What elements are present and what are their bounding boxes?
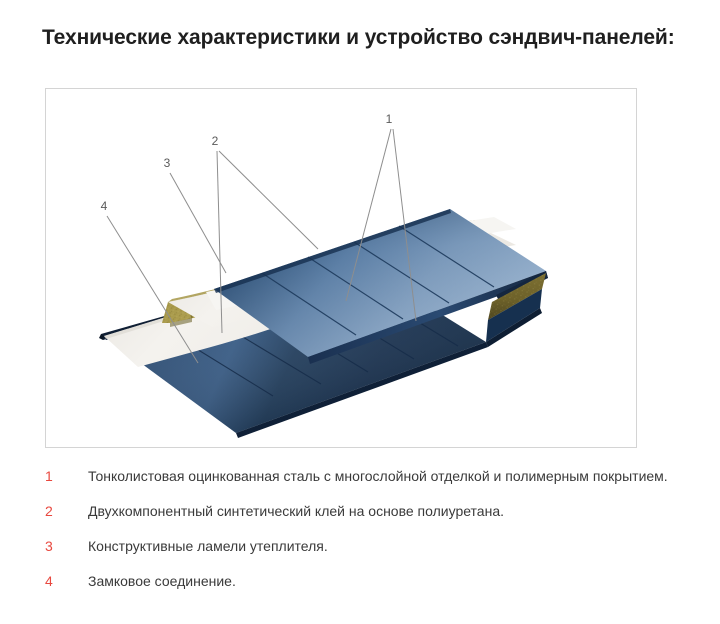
legend-number: 3 bbox=[42, 536, 88, 557]
legend-number: 4 bbox=[42, 571, 88, 592]
legend-text: Замковое соединение. bbox=[88, 571, 688, 592]
figure-frame: 1 2 3 4 bbox=[45, 88, 637, 448]
callout-label-2: 2 bbox=[212, 134, 219, 148]
sandwich-panel-illustration: 1 2 3 4 bbox=[46, 89, 636, 447]
page-title: Технические характеристики и устройство … bbox=[42, 24, 697, 52]
legend-list: 1 Тонколистовая оцинкованная сталь с мно… bbox=[42, 466, 702, 592]
list-item: 1 Тонколистовая оцинкованная сталь с мно… bbox=[42, 466, 702, 487]
callout-label-1: 1 bbox=[386, 112, 393, 126]
list-item: 3 Конструктивные ламели утеплителя. bbox=[42, 536, 702, 557]
legend-text: Конструктивные ламели утеплителя. bbox=[88, 536, 688, 557]
callout-labels: 1 2 3 4 bbox=[101, 112, 393, 213]
legend-text: Тонколистовая оцинкованная сталь с много… bbox=[88, 466, 688, 487]
legend-number: 2 bbox=[42, 501, 88, 522]
callout-label-3: 3 bbox=[164, 156, 171, 170]
page-root: Технические характеристики и устройство … bbox=[0, 0, 720, 624]
legend-text: Двухкомпонентный синтетический клей на о… bbox=[88, 501, 688, 522]
callout-label-4: 4 bbox=[101, 199, 108, 213]
list-item: 4 Замковое соединение. bbox=[42, 571, 702, 592]
legend-number: 1 bbox=[42, 466, 88, 487]
list-item: 2 Двухкомпонентный синтетический клей на… bbox=[42, 501, 702, 522]
